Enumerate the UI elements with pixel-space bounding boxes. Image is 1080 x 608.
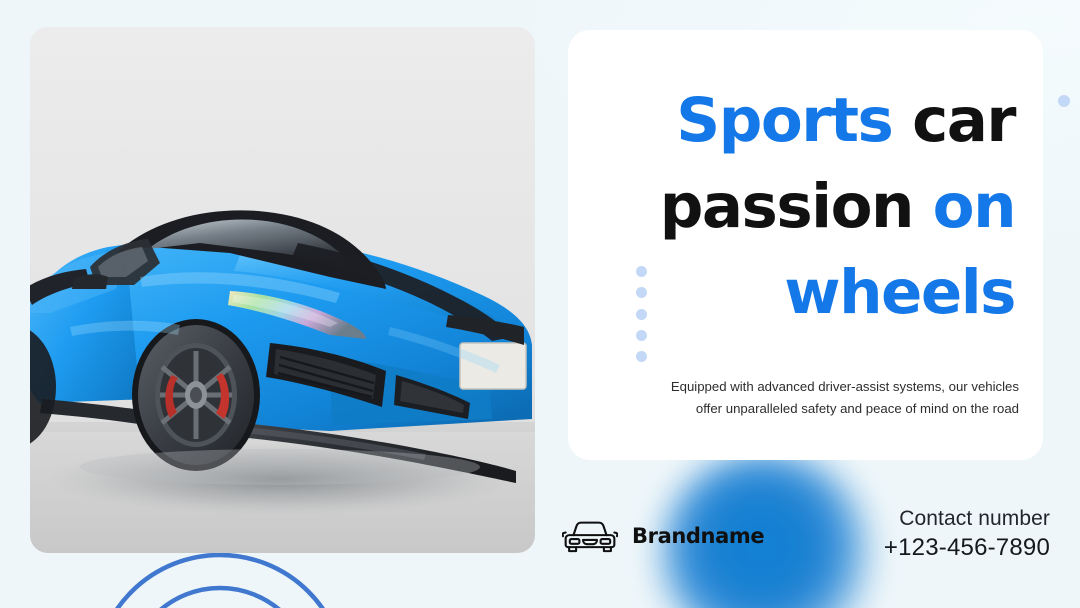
page-title: Sports car passion on wheels — [615, 78, 1015, 336]
decor-dot — [636, 351, 647, 362]
headline-line-2: passion on — [615, 164, 1015, 250]
poster-canvas: Sports car passion on wheels Equipped wi… — [0, 0, 1080, 608]
headline-accent-3: wheels — [784, 257, 1015, 328]
car-photo-illustration — [30, 27, 535, 553]
body-copy: Equipped with advanced driver-assist sys… — [606, 376, 1019, 420]
headline-plain-1: car — [912, 85, 1015, 156]
decor-dot — [636, 309, 647, 320]
content-card: Sports car passion on wheels Equipped wi… — [568, 30, 1043, 460]
body-copy-line-1: Equipped with advanced driver-assist sys… — [606, 376, 1019, 398]
edge-dot-decoration — [1058, 95, 1070, 107]
dots-column-decoration — [634, 266, 648, 362]
brand-lockup: Brandname — [562, 512, 764, 560]
headline-accent-1: Sports — [676, 85, 912, 156]
brand-name: Brandname — [632, 524, 764, 548]
headline-plain-2: passion — [660, 171, 933, 242]
contact-number[interactable]: +123-456-7890 — [884, 533, 1050, 563]
car-photo-panel — [30, 27, 535, 553]
headline-line-1: Sports car — [615, 78, 1015, 164]
decor-dot — [636, 266, 647, 277]
body-copy-line-2: offer unparalleled safety and peace of m… — [606, 398, 1019, 420]
car-front-icon — [562, 516, 618, 556]
decor-dot — [636, 330, 647, 341]
headline-accent-2: on — [933, 171, 1015, 242]
decor-dot — [636, 287, 647, 298]
front-wheel — [132, 319, 260, 471]
contact-block: Contact number +123-456-7890 — [884, 505, 1050, 563]
headline-line-3: wheels — [615, 250, 1015, 336]
contact-label: Contact number — [884, 505, 1050, 533]
